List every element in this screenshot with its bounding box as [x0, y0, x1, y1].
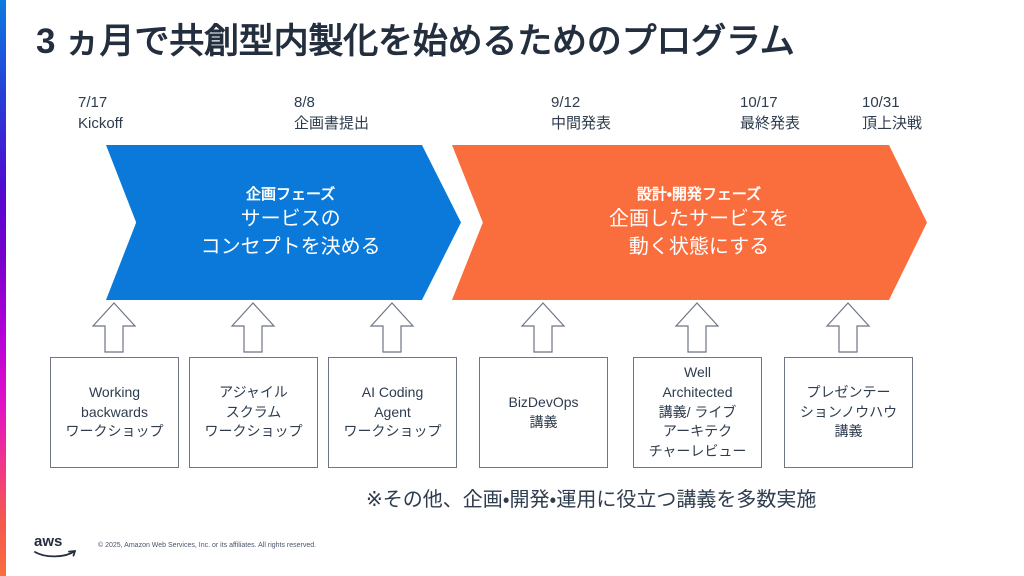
milestone-date: 10/17	[740, 92, 800, 113]
phase-subtitle-line2: コンセプトを決める	[201, 234, 381, 262]
up-arrow-icon	[90, 301, 138, 351]
milestone-label: 最終発表	[740, 113, 800, 134]
program-line: BizDevOps	[508, 393, 578, 413]
program-line: ワークショップ	[344, 422, 442, 442]
up-arrow-icon	[519, 301, 567, 351]
up-arrow-icon	[673, 301, 721, 351]
milestone-label: 頂上決戦	[862, 113, 922, 134]
program-line: Agent	[344, 403, 442, 423]
milestone-3: 10/17 最終発表	[740, 92, 800, 135]
program-line: ションノウハウ	[800, 403, 897, 423]
phase-chevron-planning: 企画フェーズ サービスの コンセプトを決める	[106, 145, 461, 300]
milestone-date: 9/12	[551, 92, 611, 113]
page-title: 3 ヵ月で共創型内製化を始めるためのプログラム	[36, 20, 986, 64]
program-line: チャーレビュー	[649, 442, 747, 462]
footnote-text: ※その他、企画・開発・運用に役立つ講義を多数実施	[366, 483, 816, 512]
program-line: 講義	[508, 413, 578, 433]
program-line: Working	[66, 383, 164, 403]
program-line: アジャイル	[205, 383, 303, 403]
milestone-1: 8/8 企画書提出	[294, 92, 369, 135]
phase-subtitle-line1: 企画したサービスを	[609, 206, 789, 234]
up-arrow-icon	[368, 301, 416, 351]
milestone-date: 10/31	[862, 92, 922, 113]
program-box-presentation-knowhow[interactable]: プレゼンテー ションノウハウ 講義	[784, 357, 913, 468]
phase-title: 企画フェーズ	[201, 184, 381, 207]
milestone-label: 企画書提出	[294, 113, 369, 134]
up-arrow-icon	[229, 301, 277, 351]
program-line: スクラム	[205, 403, 303, 423]
phase-title: 設計・開発フェーズ	[609, 184, 789, 207]
milestone-label: 中間発表	[551, 113, 611, 134]
program-box-bizdevops[interactable]: BizDevOps 講義	[479, 357, 608, 468]
program-line: ワークショップ	[205, 422, 303, 442]
milestone-0: 7/17 Kickoff	[78, 92, 123, 135]
milestone-date: 7/17	[78, 92, 123, 113]
up-arrow-icon	[824, 301, 872, 351]
program-line: backwards	[66, 403, 164, 423]
milestone-4: 10/31 頂上決戦	[862, 92, 922, 135]
program-line: 講義/ ライブ	[649, 403, 747, 423]
copyright-text: © 2025, Amazon Web Services, Inc. or its…	[98, 542, 316, 549]
program-line: アーキテク	[649, 422, 747, 442]
milestone-date: 8/8	[294, 92, 369, 113]
gradient-accent-stripe	[0, 0, 6, 576]
phase-subtitle-line2: 動く状態にする	[609, 234, 789, 262]
program-line: 講義	[800, 422, 897, 442]
program-line: Well	[649, 363, 747, 383]
program-box-ai-coding-agent[interactable]: AI Coding Agent ワークショップ	[328, 357, 457, 468]
program-line: Architected	[649, 383, 747, 403]
phase-chevron-design-development: 設計・開発フェーズ 企画したサービスを 動く状態にする	[452, 145, 927, 300]
program-line: プレゼンテー	[800, 383, 897, 403]
program-box-agile-scrum[interactable]: アジャイル スクラム ワークショップ	[189, 357, 318, 468]
svg-text:aws: aws	[34, 533, 62, 550]
program-line: ワークショップ	[66, 422, 164, 442]
milestone-label: Kickoff	[78, 113, 123, 134]
aws-logo: aws	[33, 533, 79, 559]
program-box-well-architected[interactable]: Well Architected 講義/ ライブ アーキテク チャーレビュー	[633, 357, 762, 468]
milestone-2: 9/12 中間発表	[551, 92, 611, 135]
phase-subtitle-line1: サービスの	[201, 206, 381, 234]
program-box-working-backwards[interactable]: Working backwards ワークショップ	[50, 357, 179, 468]
program-line: AI Coding	[344, 383, 442, 403]
slide-canvas: 3 ヵ月で共創型内製化を始めるためのプログラム 7/17 Kickoff 8/8…	[0, 0, 1024, 576]
